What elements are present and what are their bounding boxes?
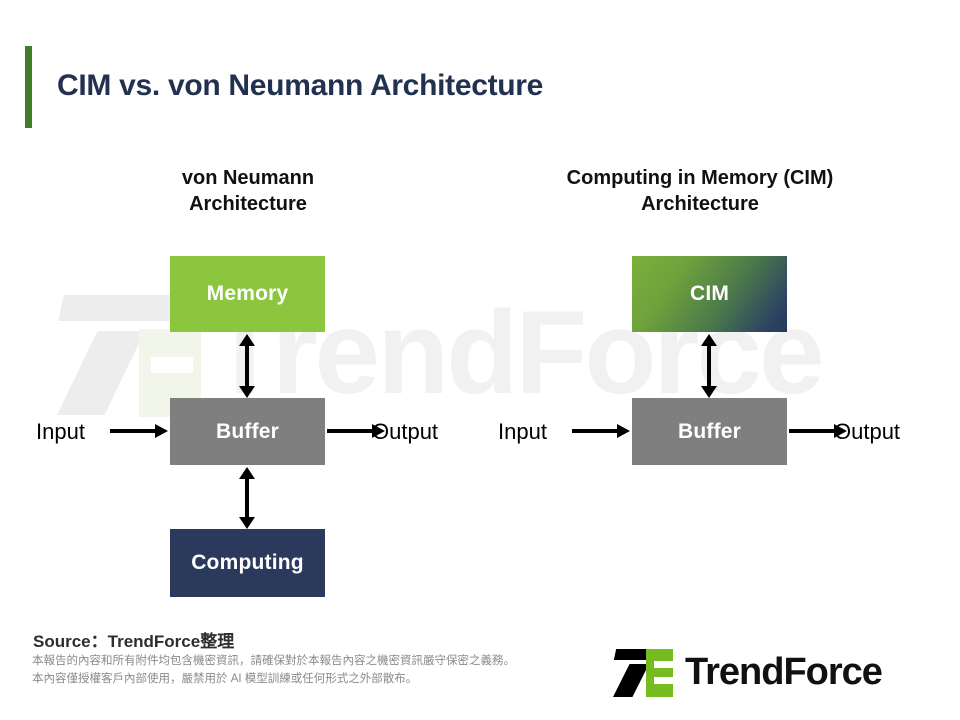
node-buffer-left[interactable]: Buffer <box>170 398 325 465</box>
arrow-cim-buffer <box>701 334 717 398</box>
title-accent-bar <box>25 46 32 128</box>
arrow-input-buffer-right <box>572 424 630 438</box>
page-title: CIM vs. von Neumann Architecture <box>57 69 543 103</box>
trendforce-logo: TrendForce <box>613 646 931 698</box>
arrow-input-buffer-left <box>110 424 168 438</box>
trendforce-logo-icon <box>613 647 675 697</box>
node-buffer-right[interactable]: Buffer <box>632 398 787 465</box>
slide-canvas: CIM vs. von Neumann Architecture TrendFo… <box>0 0 960 720</box>
diagram-heading-von-neumann: von Neumann Architecture <box>128 166 368 217</box>
diagram-heading-cim: Computing in Memory (CIM) Architecture <box>545 166 855 217</box>
disclaimer-line-1: 本報告的內容和所有附件均包含機密資訊，請確保對於本報告內容之機密資訊嚴守保密之義… <box>32 653 515 671</box>
arrow-buffer-computing <box>239 467 255 529</box>
trendforce-logo-text: TrendForce <box>685 653 882 691</box>
label-input-left: Input <box>36 419 85 445</box>
disclaimer-text: 本報告的內容和所有附件均包含機密資訊，請確保對於本報告內容之機密資訊嚴守保密之義… <box>32 653 515 689</box>
label-output-right: Output <box>834 419 900 445</box>
label-input-right: Input <box>498 419 547 445</box>
arrow-memory-buffer <box>239 334 255 398</box>
source-label: Source：TrendForce整理 <box>33 627 234 652</box>
disclaimer-line-2: 本內容僅授權客戶內部使用，嚴禁用於 AI 模型訓練或任何形式之外部散布。 <box>32 671 515 689</box>
label-output-left: Output <box>372 419 438 445</box>
heading-line-1: von Neumann <box>128 166 368 192</box>
node-memory[interactable]: Memory <box>170 256 325 332</box>
heading-line-2: Architecture <box>128 192 368 218</box>
node-computing[interactable]: Computing <box>170 529 325 597</box>
node-cim[interactable]: CIM <box>632 256 787 332</box>
heading-line-2: Architecture <box>545 192 855 218</box>
heading-line-1: Computing in Memory (CIM) <box>545 166 855 192</box>
